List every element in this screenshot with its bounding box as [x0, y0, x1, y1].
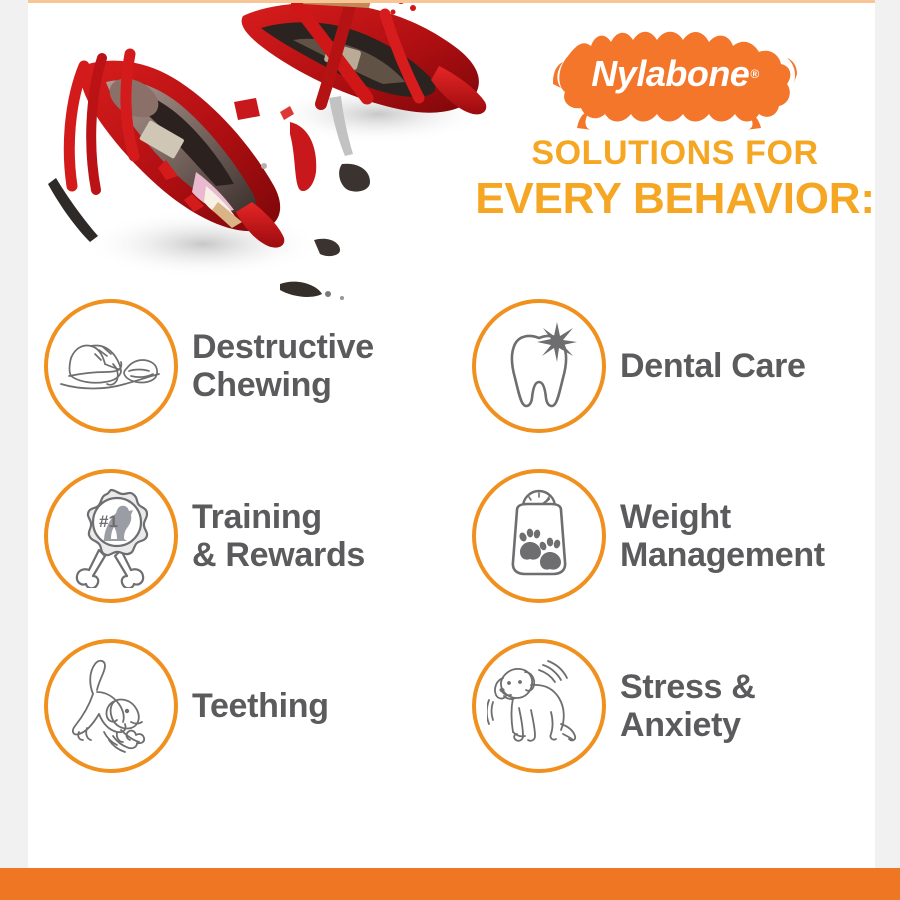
- chewed-shoe-icon: [44, 299, 178, 433]
- behavior-label: Training & Rewards: [192, 498, 365, 574]
- behavior-item-destructive-chewing[interactable]: Destructive Chewing: [44, 293, 464, 439]
- headline-line-1: SOLUTIONS FOR: [446, 136, 875, 170]
- poster-page: Nylabone® SOLUTIONS FOR EVERY BEHAVIOR:: [0, 0, 900, 900]
- behavior-row-1: Destructive Chewing Dental Ca: [44, 293, 875, 463]
- behavior-item-training-rewards[interactable]: #1 Training & Rewards: [44, 463, 464, 609]
- destroyed-red-shoes-photo: [28, 0, 498, 314]
- behavior-row-3: Teething: [44, 633, 875, 803]
- behavior-label: Weight Management: [620, 498, 825, 574]
- behavior-label: Stress & Anxiety: [620, 668, 756, 744]
- nylabone-wordmark: Nylabone®: [553, 18, 797, 130]
- behavior-item-teething[interactable]: Teething: [44, 633, 464, 779]
- trembling-dog-icon: [472, 639, 606, 773]
- puppy-chewing-bone-icon: [44, 639, 178, 773]
- nylabone-logo[interactable]: Nylabone®: [553, 18, 797, 130]
- poster-canvas: Nylabone® SOLUTIONS FOR EVERY BEHAVIOR:: [28, 0, 875, 868]
- behavior-row-2: #1 Training & Rewards: [44, 463, 875, 633]
- behavior-item-stress-anxiety[interactable]: Stress & Anxiety: [472, 633, 875, 779]
- behavior-item-weight-management[interactable]: Weight Management: [472, 463, 875, 609]
- footer-orange-bar: [0, 868, 900, 900]
- behavior-label: Destructive Chewing: [192, 328, 374, 404]
- behavior-grid: Destructive Chewing Dental Ca: [44, 293, 875, 803]
- headline-line-2: EVERY BEHAVIOR:: [446, 177, 875, 221]
- award-ribbon-dog-icon: #1: [44, 469, 178, 603]
- behavior-label: Teething: [192, 687, 329, 725]
- rank-badge-text: #1: [99, 512, 118, 531]
- logo-text: Nylabone: [591, 53, 749, 95]
- brand-header: Nylabone® SOLUTIONS FOR EVERY BEHAVIOR:: [446, 18, 875, 221]
- behavior-label: Dental Care: [620, 347, 806, 385]
- behavior-item-dental-care[interactable]: Dental Care: [472, 293, 875, 439]
- trademark-symbol: ®: [750, 67, 758, 81]
- bathroom-scale-paws-icon: [472, 469, 606, 603]
- sparkling-tooth-icon: [472, 299, 606, 433]
- top-divider: [28, 0, 875, 3]
